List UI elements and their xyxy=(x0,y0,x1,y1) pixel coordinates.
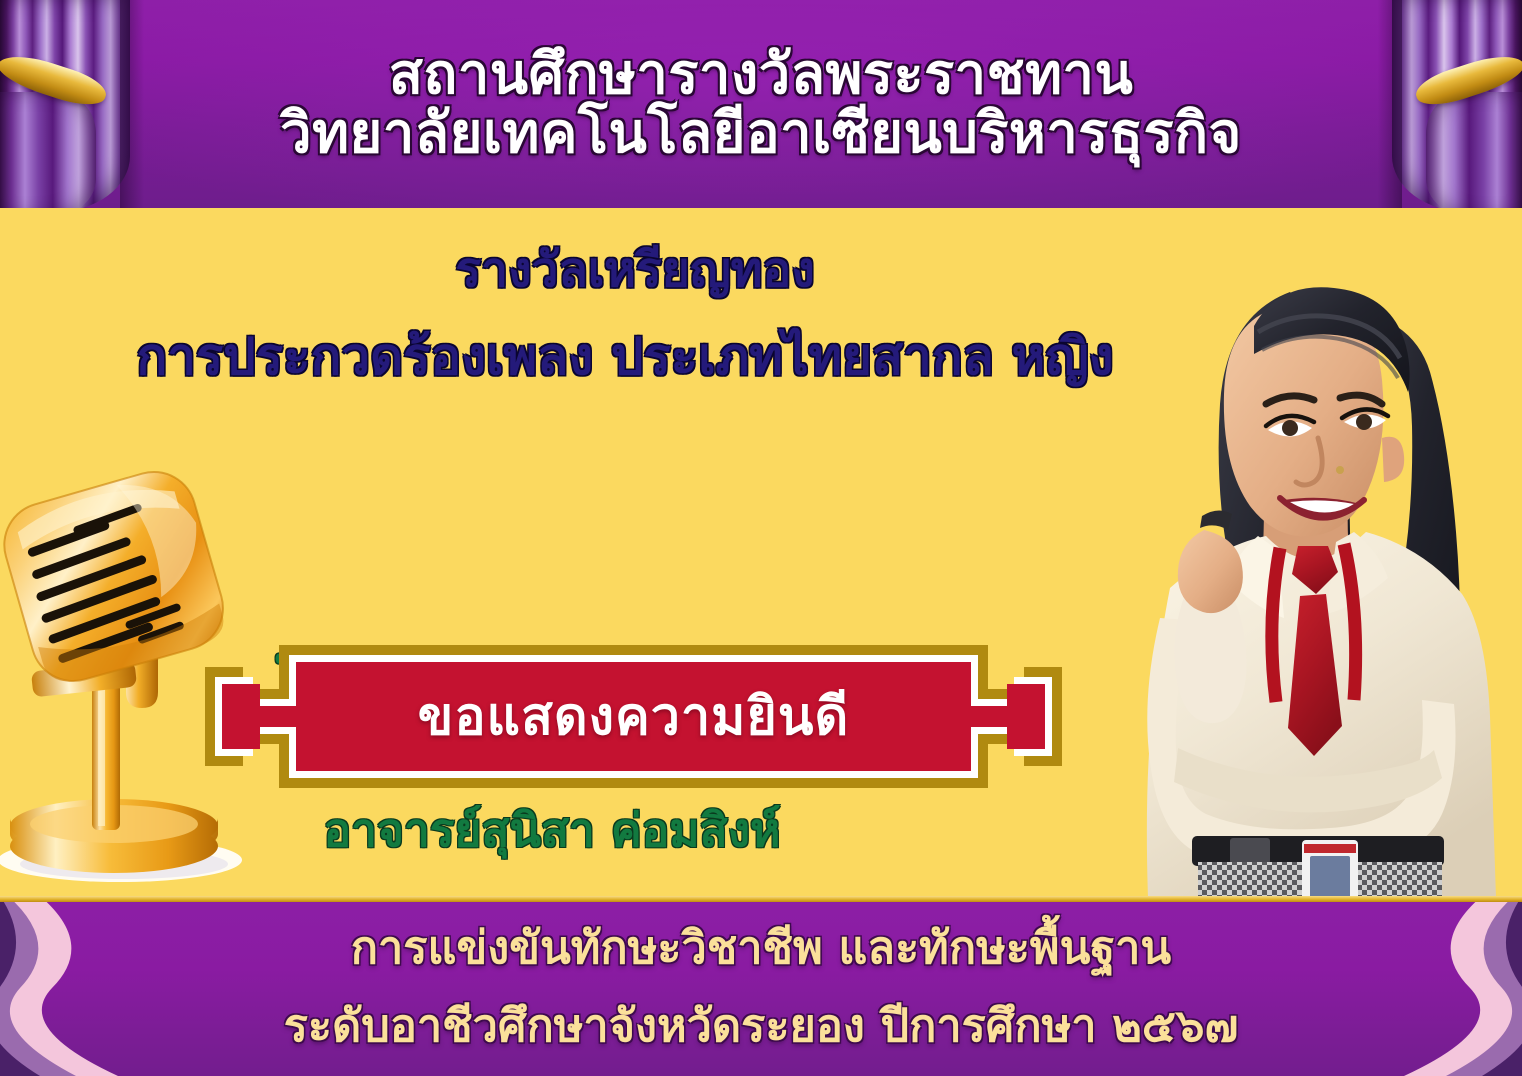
award-title-line2: การประกวดร้องเพลง ประเภทไทยสากล หญิง xyxy=(136,316,1113,397)
footer-text-block: การแข่งขันทักษะวิชาชีพ และทักษะพื้นฐาน ร… xyxy=(0,896,1522,1076)
footer-line1: การแข่งขันทักษะวิชาชีพ และทักษะพื้นฐาน xyxy=(351,911,1171,983)
advisor-name: อาจารย์สุนิสา ค่อมสิงห์ xyxy=(324,794,781,867)
poster-body: รางวัลเหรียญทอง การประกวดร้องเพลง ประเภท… xyxy=(0,208,1522,896)
poster-footer: การแข่งขันทักษะวิชาชีพ และทักษะพื้นฐาน ร… xyxy=(0,896,1522,1076)
poster-header: สถานศึกษารางวัลพระราชทาน วิทยาลัยเทคโนโล… xyxy=(0,0,1522,208)
plaque-text: ขอแสดงความยินดี xyxy=(205,645,1062,788)
congratulations-plaque: ขอแสดงความยินดี xyxy=(205,645,1062,788)
award-heading-block: รางวัลเหรียญทอง การประกวดร้องเพลง ประเภท… xyxy=(0,232,1250,397)
header-title-line2: วิทยาลัยเทคโนโลยีอาเซียนบริหารธุรกิจ xyxy=(280,105,1242,162)
header-title-block: สถานศึกษารางวัลพระราชทาน วิทยาลัยเทคโนโล… xyxy=(0,0,1522,208)
award-title-line1: รางวัลเหรียญทอง xyxy=(455,232,814,308)
header-title-line1: สถานศึกษารางวัลพระราชทาน xyxy=(389,46,1134,103)
footer-line2: ระดับอาชีวศึกษาจังหวัดระยอง ปีการศึกษา ๒… xyxy=(284,989,1239,1061)
congratulations-poster: สถานศึกษารางวัลพระราชทาน วิทยาลัยเทคโนโล… xyxy=(0,0,1522,1076)
